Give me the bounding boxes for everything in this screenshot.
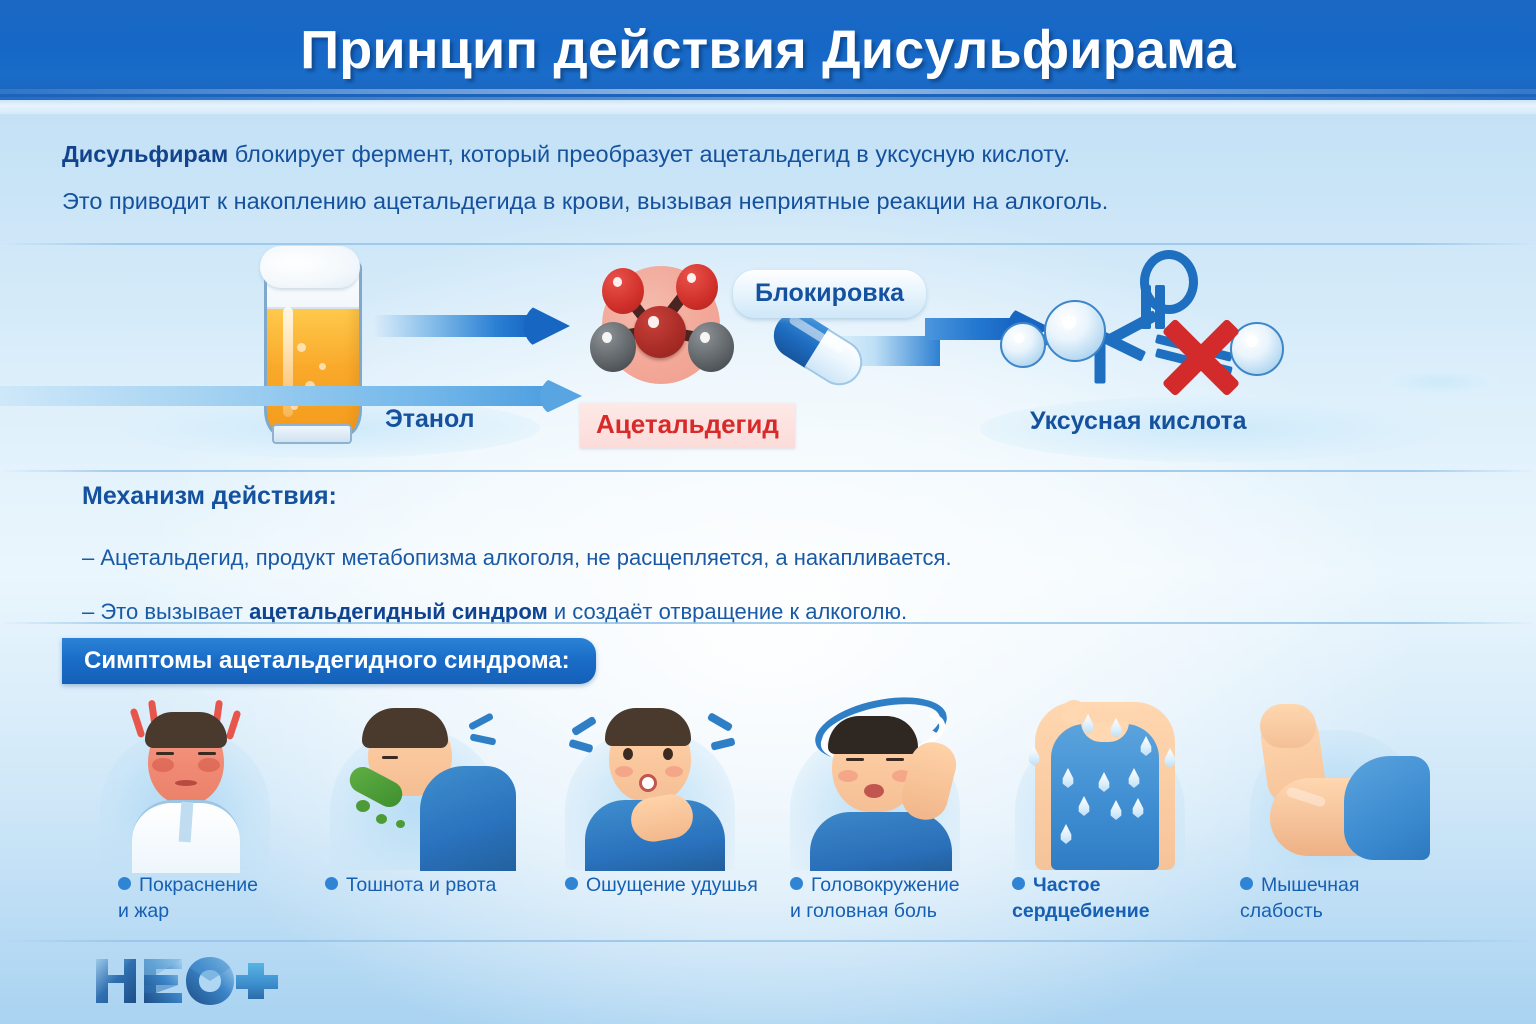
- shirt: [420, 766, 516, 871]
- symptom-label-4-line1: Головокружение: [811, 874, 960, 896]
- mechanism-item-2-bold: ацетальдегидный синдром: [249, 599, 548, 624]
- label-ethanol: Этанол: [385, 405, 475, 434]
- beer-glass-icon: [258, 256, 362, 446]
- mechanism-item-2-a: – Это вызывает: [82, 599, 249, 624]
- symptom-label-5: Частоесердцебиение: [1012, 872, 1222, 924]
- atom-highlight: [687, 273, 696, 283]
- speed-line: [568, 739, 593, 753]
- divider-top: [0, 243, 1536, 245]
- symptom-illustration-2: [320, 696, 520, 871]
- symptom-label-5-line1: Частое: [1033, 874, 1100, 896]
- red-x-icon: [1158, 314, 1244, 400]
- symptom-illustration-6: [1240, 696, 1440, 871]
- infographic-poster: Принцип действия Дисульфирама Дисульфира…: [0, 0, 1536, 1024]
- bullet-icon: [118, 877, 131, 890]
- arrow-head: [524, 303, 570, 349]
- mechanism-section: Механизм действия: – Ацетальдегид, проду…: [82, 482, 1432, 654]
- symptom-illustration-1: [90, 696, 290, 871]
- cheek-blush: [838, 770, 858, 782]
- mouth-open: [864, 784, 884, 798]
- symptom-label-2-line1: Тошнота и рвота: [346, 874, 496, 896]
- heat-squiggle: [130, 708, 146, 739]
- symptom-label-4: Головокружениеи головная боль: [790, 872, 1005, 924]
- mechanism-heading: Механизм действия:: [82, 482, 1432, 511]
- label-acetic-acid: Уксусная кислота: [1030, 407, 1247, 436]
- beer-bubble: [297, 343, 306, 352]
- mouth: [175, 780, 197, 786]
- atom-hydrogen-end: [1000, 322, 1046, 368]
- cheek-blush: [615, 766, 633, 777]
- bullet-icon: [565, 877, 578, 890]
- symptom-label-5-line2: сердцебиение: [1012, 900, 1150, 922]
- vomiting-person-icon: [320, 696, 520, 871]
- symptom-illustration-3: [555, 696, 755, 871]
- eye-closed: [382, 756, 398, 759]
- intro-line-1: Дисульфирам блокирует фермент, который п…: [62, 140, 1462, 169]
- vomit-drop: [376, 814, 387, 824]
- cheek-blush: [198, 758, 220, 772]
- atom-highlight: [613, 277, 622, 287]
- speed-line: [468, 712, 494, 730]
- intro-line-2: Это приводит к накоплению ацетальдегида …: [62, 187, 1462, 216]
- heat-squiggle: [226, 710, 242, 741]
- eye-closed-left: [846, 758, 864, 761]
- sleeve: [1344, 756, 1430, 860]
- intro-drug-name: Дисульфирам: [62, 141, 228, 167]
- flexing-arm-icon: [1240, 696, 1440, 871]
- symptom-label-3: Ошущение удушья: [565, 872, 785, 898]
- cheek-blush: [665, 766, 683, 777]
- glass-base: [272, 424, 352, 444]
- vomit-drop: [356, 800, 370, 812]
- eye-left: [623, 748, 633, 760]
- speed-line: [571, 716, 597, 737]
- arrow-shaft: [372, 315, 532, 337]
- symptom-label-3-line1: Ошущение удушья: [586, 874, 758, 896]
- flushed-face-icon: [90, 696, 290, 871]
- speed-line: [710, 737, 735, 751]
- vomit-drop: [396, 820, 405, 828]
- shirt: [810, 812, 952, 871]
- arrow-shaft: [0, 386, 548, 406]
- label-acetaldehyde: Ацетальдегид: [580, 403, 795, 448]
- header-bar: Принцип действия Дисульфирама: [0, 0, 1536, 100]
- mechanism-item-1: – Ацетальдегид, продукт метабопизма алко…: [82, 545, 1432, 571]
- speed-line: [470, 733, 497, 745]
- atom-oxygen-carbonyl: [1140, 250, 1198, 314]
- symptom-label-1-line1: Покраснение: [139, 874, 258, 896]
- divider-bottom: [0, 940, 1536, 942]
- hair: [828, 716, 918, 754]
- cheek-blush: [152, 758, 174, 772]
- symptom-label-6: Мышечнаяслабость: [1240, 872, 1430, 924]
- logo-mark: [92, 953, 282, 1007]
- atom-highlight: [1246, 335, 1258, 347]
- speed-line: [707, 712, 734, 732]
- symptom-label-6-line1: Мышечная: [1261, 874, 1359, 896]
- blocking-badge: Блокировка: [733, 270, 926, 318]
- choking-person-icon: [555, 696, 755, 871]
- page-title: Принцип действия Дисульфирама: [0, 0, 1536, 100]
- symptom-illustration-4: [780, 696, 980, 871]
- intro-line-1-rest: блокирует фермент, который преобразует а…: [228, 141, 1070, 167]
- divider-middle: [0, 470, 1536, 472]
- atom-highlight: [700, 332, 710, 343]
- bullet-icon: [790, 877, 803, 890]
- symptom-label-1: Покраснениеи жар: [118, 872, 308, 924]
- arrow-ethanol-to-acetaldehyde: [372, 303, 572, 347]
- hair: [362, 708, 448, 748]
- acetaldehyde-molecule-icon: [572, 258, 752, 398]
- symptom-illustration-row: [0, 696, 1536, 886]
- atom-highlight: [1014, 333, 1024, 343]
- symptom-label-1-line2: и жар: [118, 900, 169, 922]
- symptoms-banner: Симптомы ацетальдегидного синдрома:: [62, 638, 596, 684]
- atom-hydrogen-left: [590, 322, 636, 372]
- hair: [605, 708, 691, 746]
- intro-text-block: Дисульфирам блокирует фермент, который п…: [62, 140, 1462, 235]
- arrow-label-track: [0, 376, 595, 416]
- dizzy-headache-icon: [780, 696, 980, 871]
- eye-closed-right: [886, 758, 904, 761]
- atom-highlight: [602, 332, 612, 343]
- beer-bubble: [319, 363, 326, 370]
- puddle-shape-far-right: [1380, 368, 1500, 396]
- eye-right: [663, 748, 673, 760]
- atom-carbon-methyl: [1044, 300, 1106, 362]
- symptom-label-4-line2: и головная боль: [790, 900, 937, 922]
- atom-hydrogen-right: [688, 322, 734, 372]
- symptom-label-6-line2: слабость: [1240, 900, 1323, 922]
- bullet-icon: [1240, 877, 1253, 890]
- neo-plus-logo: [92, 952, 282, 1008]
- eye-closed-right: [198, 752, 216, 755]
- mouth-open: [639, 774, 657, 792]
- bullet-icon: [325, 877, 338, 890]
- eye-closed-left: [156, 752, 174, 755]
- acetic-acid-molecule-icon: [1000, 262, 1290, 402]
- atom-carbon-center: [634, 306, 686, 358]
- hair: [145, 712, 227, 748]
- atom-oxygen-2: [676, 264, 718, 310]
- bullet-icon: [1012, 877, 1025, 890]
- sweating-torso-icon: [1005, 696, 1205, 871]
- divider-symptoms: [0, 622, 1536, 624]
- mechanism-item-2-b: и создаёт отвращение к алкоголю.: [548, 599, 907, 624]
- fist: [1260, 704, 1316, 748]
- beer-foam: [260, 246, 360, 288]
- atom-highlight: [648, 316, 659, 327]
- symptom-label-2: Тошнота и рвота: [325, 872, 535, 898]
- symptom-illustration-5: [1005, 696, 1205, 871]
- atom-highlight: [1062, 315, 1076, 329]
- atom-oxygen-1: [602, 268, 644, 314]
